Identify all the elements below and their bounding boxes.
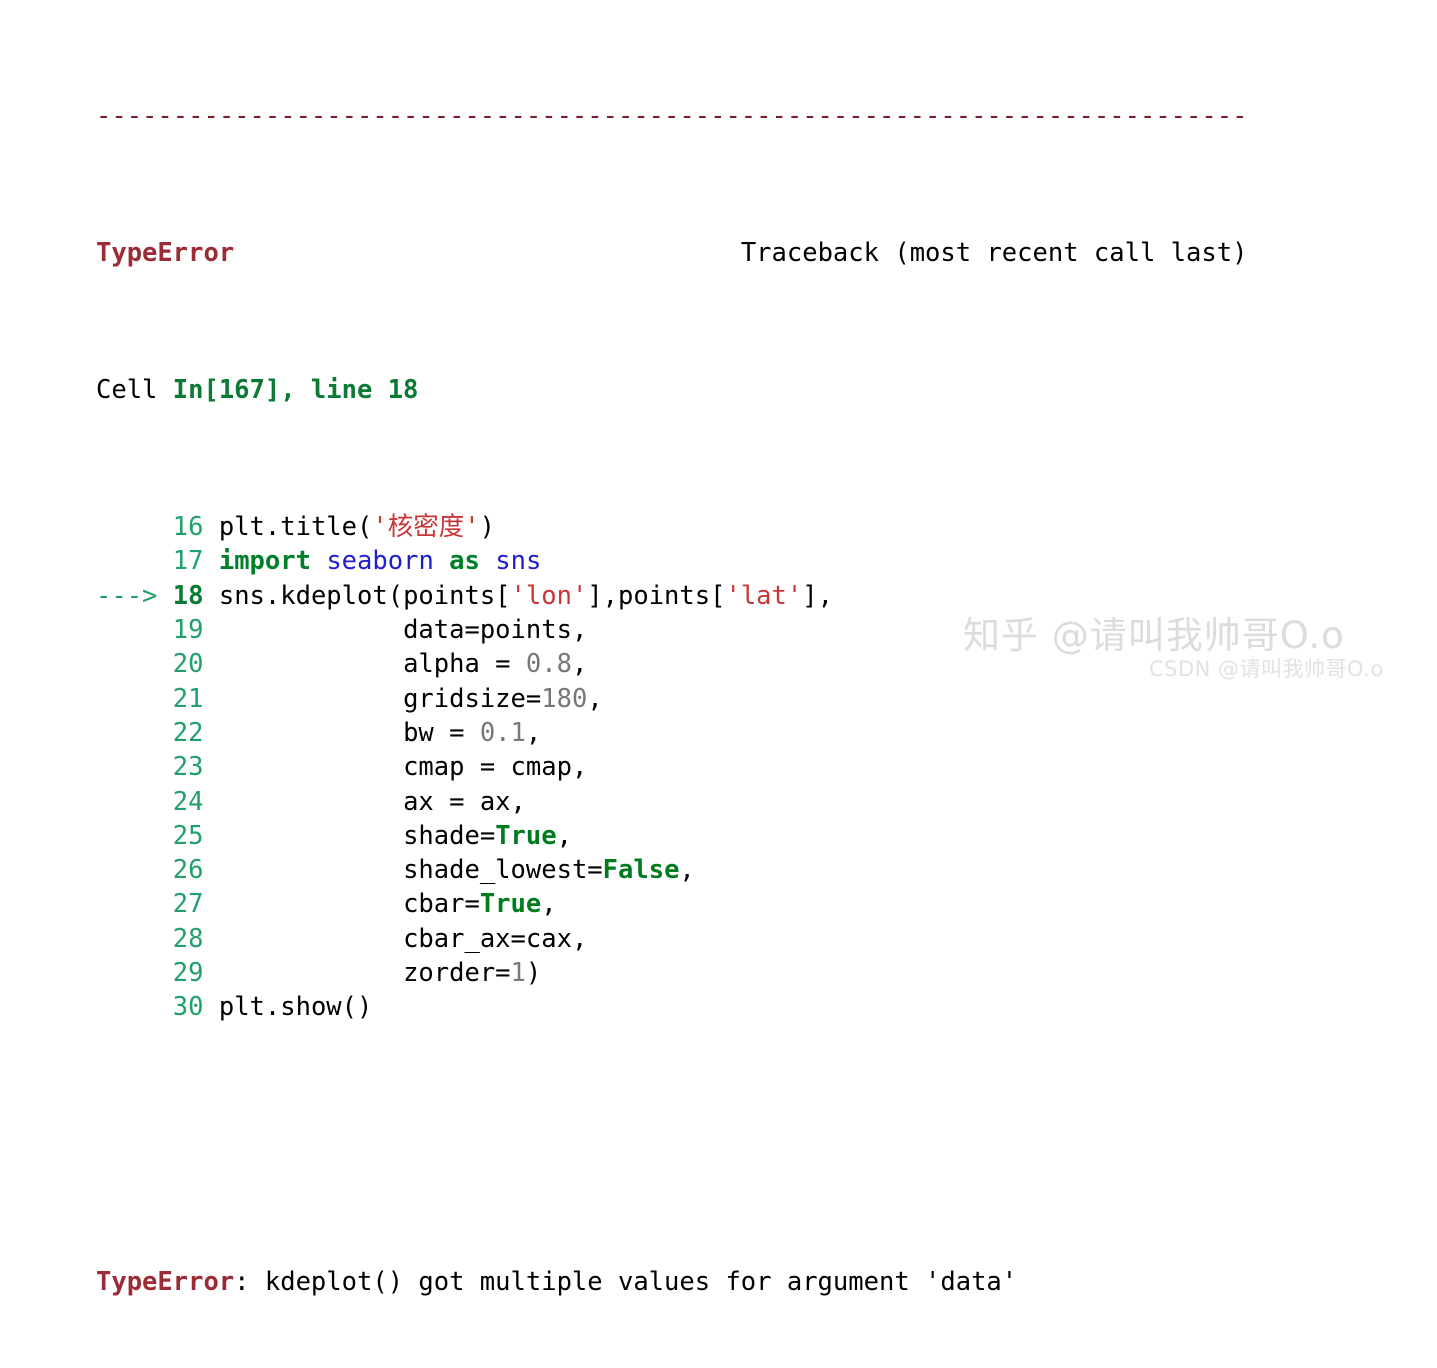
- code-token: True: [480, 889, 541, 919]
- cell-keyword: Cell: [96, 375, 173, 405]
- current-line-arrow: --->: [96, 581, 173, 611]
- code-token: 0.1: [480, 718, 526, 748]
- line-marker: [96, 615, 173, 645]
- code-token: cbar=: [203, 889, 479, 919]
- code-line: 24 ax = ax,: [0, 785, 1437, 819]
- code-token: 180: [541, 684, 587, 714]
- code-token: 1: [511, 958, 526, 988]
- code-line: 21 gridsize=180,: [0, 682, 1437, 716]
- line-marker: [96, 924, 173, 954]
- line-marker: [96, 752, 173, 782]
- code-token: ],: [802, 581, 833, 611]
- code-token: ,: [587, 684, 602, 714]
- traceback-header: TypeError Traceback (most recent call la…: [0, 236, 1437, 270]
- code-token: ): [480, 512, 495, 542]
- code-token: '核密度': [372, 512, 479, 542]
- code-token: ,: [541, 889, 556, 919]
- code-token: [203, 546, 218, 576]
- code-token: gridsize=: [203, 684, 541, 714]
- line-number: 27: [173, 889, 204, 919]
- code-token: sns.kdeplot(points[: [203, 581, 510, 611]
- code-line: 17 import seaborn as sns: [0, 544, 1437, 578]
- traceback-output: ----------------------------------------…: [0, 0, 1437, 693]
- code-token: import: [219, 546, 311, 576]
- code-line: 26 shade_lowest=False,: [0, 853, 1437, 887]
- code-token: shade_lowest=: [203, 855, 602, 885]
- code-token: alpha =: [203, 649, 525, 679]
- code-token: ],points[: [587, 581, 725, 611]
- code-token: data=points,: [203, 615, 587, 645]
- code-token: shade=: [203, 821, 495, 851]
- blank-spacer-line: [0, 1128, 1437, 1162]
- cell-location-link[interactable]: In[167], line 18: [173, 375, 419, 405]
- code-token: True: [495, 821, 556, 851]
- code-line: 30 plt.show(): [0, 990, 1437, 1024]
- line-number: 16: [173, 512, 204, 542]
- line-number: 29: [173, 958, 204, 988]
- line-marker: [96, 958, 173, 988]
- header-spacer: [234, 238, 741, 268]
- code-token: zorder=: [203, 958, 510, 988]
- cell-location-line: Cell In[167], line 18: [0, 373, 1437, 407]
- code-line: 29 zorder=1): [0, 956, 1437, 990]
- code-token: 'lat': [725, 581, 802, 611]
- line-number: 19: [173, 615, 204, 645]
- line-number: 21: [173, 684, 204, 714]
- traceback-note: Traceback (most recent call last): [741, 238, 1248, 268]
- line-number: 24: [173, 787, 204, 817]
- line-marker: [96, 787, 173, 817]
- code-token: seaborn: [326, 546, 433, 576]
- code-token: ): [526, 958, 541, 988]
- code-token: cmap = cmap,: [203, 752, 587, 782]
- code-token: as: [449, 546, 480, 576]
- line-number: 30: [173, 992, 204, 1022]
- code-token: plt.show(): [203, 992, 372, 1022]
- line-number: 17: [173, 546, 204, 576]
- code-line: 16 plt.title('核密度'): [0, 510, 1437, 544]
- line-marker: [96, 649, 173, 679]
- line-number: 26: [173, 855, 204, 885]
- code-token: 0.8: [526, 649, 572, 679]
- code-token: [480, 546, 495, 576]
- code-token: [311, 546, 326, 576]
- code-line: 22 bw = 0.1,: [0, 716, 1437, 750]
- line-marker: [96, 718, 173, 748]
- line-marker: [96, 855, 173, 885]
- line-marker: [96, 684, 173, 714]
- code-listing: 16 plt.title('核密度') 17 import seaborn as…: [0, 510, 1437, 1024]
- code-token: ,: [679, 855, 694, 885]
- error-message-type: TypeError: [96, 1267, 234, 1297]
- code-line: 25 shade=True,: [0, 819, 1437, 853]
- error-type-label: TypeError: [96, 238, 234, 268]
- line-marker: [96, 821, 173, 851]
- line-marker: [96, 546, 173, 576]
- code-line: 23 cmap = cmap,: [0, 750, 1437, 784]
- error-message-line: TypeError: kdeplot() got multiple values…: [0, 1265, 1437, 1299]
- line-marker: [96, 889, 173, 919]
- code-token: plt.title(: [203, 512, 372, 542]
- code-token: ,: [572, 649, 587, 679]
- code-token: [434, 546, 449, 576]
- line-number: 18: [173, 581, 204, 611]
- line-number: 28: [173, 924, 204, 954]
- line-marker: [96, 512, 173, 542]
- code-token: ,: [526, 718, 541, 748]
- line-number: 23: [173, 752, 204, 782]
- line-number: 20: [173, 649, 204, 679]
- csdn-watermark: CSDN @请叫我帅哥O.o: [1149, 653, 1384, 683]
- code-token: ,: [557, 821, 572, 851]
- traceback-separator: ----------------------------------------…: [0, 103, 1437, 133]
- code-line: 28 cbar_ax=cax,: [0, 922, 1437, 956]
- code-token: False: [603, 855, 680, 885]
- code-token: ax = ax,: [203, 787, 525, 817]
- zhihu-watermark: 知乎 @请叫我帅哥O.o: [963, 605, 1345, 659]
- code-token: 'lon': [511, 581, 588, 611]
- line-number: 25: [173, 821, 204, 851]
- line-number: 22: [173, 718, 204, 748]
- code-line: 27 cbar=True,: [0, 887, 1437, 921]
- code-token: bw =: [203, 718, 479, 748]
- code-token: cbar_ax=cax,: [203, 924, 587, 954]
- code-token: sns: [495, 546, 541, 576]
- line-marker: [96, 992, 173, 1022]
- error-message-text: : kdeplot() got multiple values for argu…: [234, 1267, 1017, 1297]
